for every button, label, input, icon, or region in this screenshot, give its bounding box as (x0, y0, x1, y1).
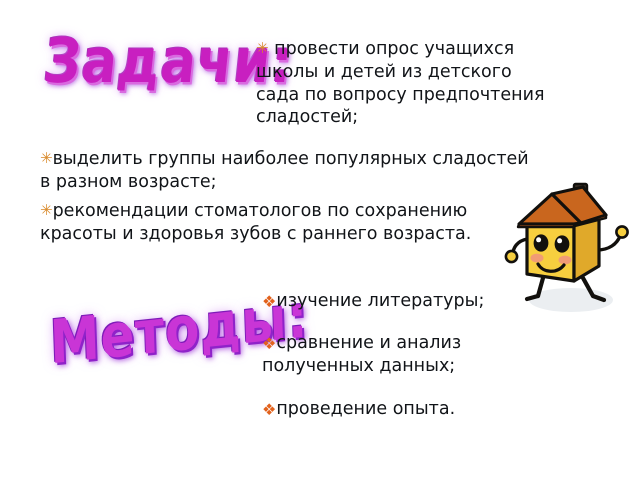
cheek-left (531, 254, 544, 263)
house-roof (518, 187, 606, 227)
method-item-1-label: изучение литературы; (276, 291, 484, 311)
task-item-2: ✳выделить группы наиболее популярных сла… (40, 148, 530, 194)
method-item-2: ❖сравнение и анализ полученных данных; (262, 332, 562, 378)
task-item-1: ✳ провести опрос учащихся школы и детей … (256, 38, 556, 129)
eye-left (534, 234, 549, 251)
task-item-2-label: выделить группы наиболее популярных слад… (40, 149, 529, 192)
house-left-arm (506, 239, 527, 262)
slide-canvas: Задачи: ✳ провести опрос учащихся школы … (0, 0, 640, 480)
diamond-cluster-icon: ❖ (262, 334, 276, 353)
task-item-1-label: провести опрос учащихся школы и детей из… (256, 39, 544, 127)
method-item-2-label: сравнение и анализ полученных данных; (262, 333, 461, 376)
method-item-3-label: проведение опыта. (276, 399, 455, 419)
starburst-icon: ✳ (40, 201, 53, 219)
eye-right (555, 235, 570, 252)
task-item-3-label: рекомендации стоматологов по сохранению … (40, 201, 471, 244)
diamond-cluster-icon: ❖ (262, 400, 276, 419)
cartoon-house-character-image (505, 178, 640, 323)
method-item-3: ❖проведение опыта. (262, 398, 562, 421)
starburst-icon: ✳ (256, 39, 269, 57)
diamond-cluster-icon: ❖ (262, 292, 276, 311)
cheek-right (559, 256, 572, 265)
task-item-3: ✳рекомендации стоматологов по сохранению… (40, 200, 530, 246)
starburst-icon: ✳ (40, 149, 53, 167)
house-right-arm (597, 226, 628, 250)
